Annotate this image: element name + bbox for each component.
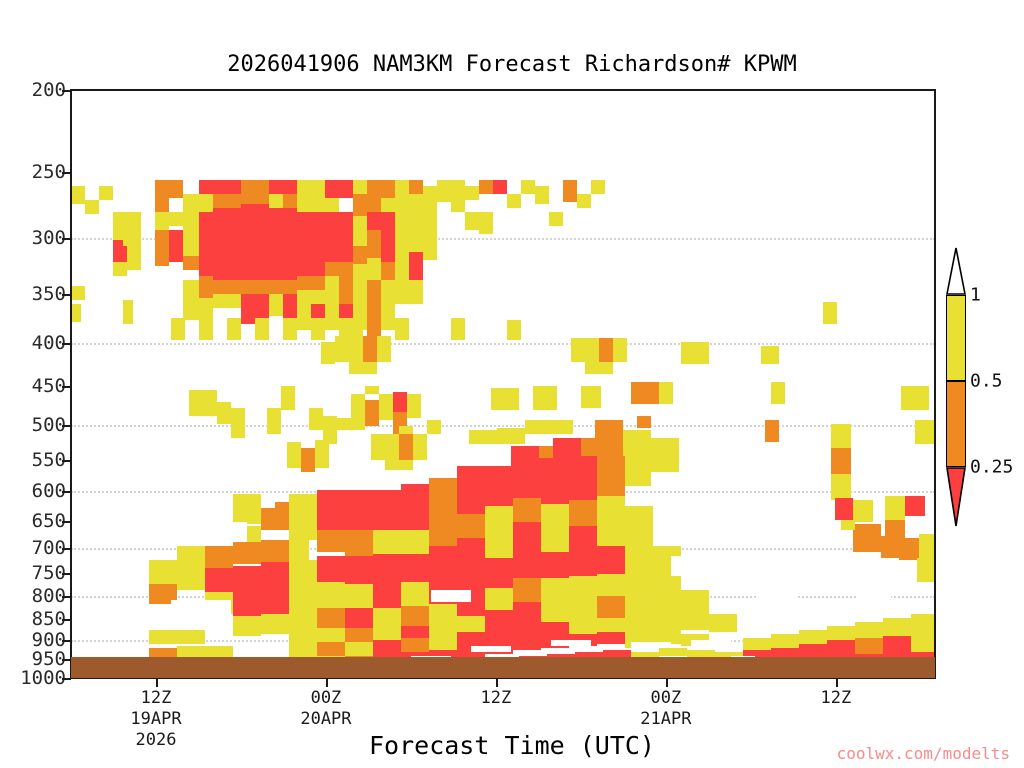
heatmap-cell bbox=[653, 576, 681, 602]
heatmap-cell bbox=[457, 538, 485, 568]
heatmap-cell bbox=[569, 526, 597, 548]
y-axis: 2002503003504004505005506006507007508008… bbox=[0, 0, 66, 768]
heatmap-cell bbox=[373, 490, 401, 534]
heatmap-cell bbox=[765, 420, 779, 442]
heatmap-cell bbox=[855, 638, 883, 654]
heatmap-cell bbox=[507, 194, 521, 208]
y-tick-mark bbox=[62, 386, 71, 388]
heatmap-cell bbox=[289, 644, 317, 658]
heatmap-cell bbox=[513, 578, 541, 604]
heatmap-cell bbox=[743, 638, 771, 650]
heatmap-cells-container bbox=[71, 90, 935, 678]
y-tick-label: 600 bbox=[32, 480, 66, 502]
heatmap-cell bbox=[457, 514, 485, 538]
heatmap-cell bbox=[349, 330, 363, 344]
heatmap-cell bbox=[85, 200, 99, 214]
heatmap-cell bbox=[623, 430, 651, 470]
heatmap-cell bbox=[577, 194, 591, 208]
heatmap-cell bbox=[297, 276, 325, 290]
x-tick-label: 12Z bbox=[481, 688, 512, 709]
heatmap-cell bbox=[171, 600, 231, 614]
heatmap-cell bbox=[71, 186, 85, 204]
heatmap-cell bbox=[351, 394, 365, 418]
heatmap-cell bbox=[409, 280, 423, 304]
colorbar-tick-label: 0.25 bbox=[970, 457, 1013, 478]
heatmap-cell bbox=[381, 180, 395, 198]
heatmap-cell bbox=[213, 280, 241, 294]
heatmap-cell bbox=[199, 194, 213, 212]
heatmap-cell bbox=[681, 590, 709, 612]
y-tick-mark bbox=[62, 294, 71, 296]
heatmap-cell bbox=[231, 408, 245, 438]
heatmap-cell bbox=[345, 642, 373, 656]
heatmap-cell bbox=[395, 194, 409, 212]
y-tick-mark bbox=[62, 238, 71, 240]
heatmap-cell bbox=[353, 304, 367, 330]
heatmap-cell bbox=[317, 582, 345, 608]
heatmap-cell bbox=[399, 434, 413, 460]
heatmap-cell bbox=[325, 304, 339, 330]
heatmap-cell bbox=[289, 538, 309, 560]
heatmap-cell bbox=[571, 338, 599, 362]
heatmap-cell bbox=[429, 524, 457, 546]
heatmap-cell bbox=[469, 430, 497, 444]
heatmap-cell bbox=[653, 618, 681, 632]
heatmap-cell bbox=[513, 498, 541, 522]
heatmap-cell bbox=[549, 212, 563, 226]
x-tick-mark bbox=[666, 678, 668, 687]
heatmap-cell bbox=[199, 212, 213, 276]
heatmap-cell bbox=[563, 180, 577, 202]
heatmap-cell bbox=[613, 338, 627, 362]
heatmap-cell bbox=[233, 566, 261, 592]
heatmap-cell bbox=[569, 456, 597, 500]
heatmap-cell bbox=[423, 232, 437, 260]
heatmap-cell bbox=[631, 382, 659, 404]
heatmap-cell bbox=[183, 194, 199, 212]
heatmap-cell bbox=[233, 494, 247, 522]
x-tick-label-line: 20APR bbox=[300, 709, 351, 730]
heatmap-cell bbox=[269, 194, 283, 208]
heatmap-cell bbox=[71, 286, 85, 300]
heatmap-cell bbox=[625, 506, 653, 540]
heatmap-cell bbox=[367, 280, 381, 304]
x-tick-label-line: 12Z bbox=[130, 688, 181, 709]
y-tick-mark bbox=[62, 640, 71, 642]
heatmap-cell bbox=[569, 548, 597, 576]
heatmap-cell bbox=[189, 390, 217, 416]
heatmap-cell bbox=[353, 194, 367, 216]
heatmap-cell bbox=[99, 186, 113, 200]
heatmap-cell bbox=[401, 606, 429, 628]
heatmap-cell bbox=[381, 198, 395, 212]
heatmap-cell bbox=[205, 546, 233, 568]
heatmap-cell bbox=[513, 638, 541, 650]
gridline bbox=[71, 343, 935, 345]
heatmap-cell bbox=[581, 386, 601, 408]
heatmap-cell bbox=[281, 386, 295, 410]
y-tick-mark bbox=[62, 573, 71, 575]
heatmap-cell bbox=[183, 256, 199, 270]
heatmap-cell bbox=[155, 180, 169, 212]
heatmap-cell bbox=[317, 642, 345, 656]
heatmap-cell bbox=[423, 204, 437, 232]
heatmap-cell bbox=[261, 588, 289, 614]
heatmap-cell bbox=[409, 226, 423, 252]
y-tick-label: 650 bbox=[32, 510, 66, 532]
chart-title: 2026041906 NAM3KM Forecast Richardson# K… bbox=[0, 52, 1024, 77]
heatmap-cell bbox=[199, 318, 213, 340]
heatmap-cell bbox=[497, 428, 525, 444]
heatmap-cell bbox=[177, 546, 205, 566]
heatmap-cell bbox=[409, 252, 423, 280]
heatmap-cell bbox=[377, 336, 391, 362]
credit-watermark: coolwx.com/modelts bbox=[837, 744, 1010, 763]
heatmap-cell bbox=[429, 478, 457, 524]
y-tick-label: 900 bbox=[32, 629, 66, 651]
x-tick-label-line: 12Z bbox=[481, 688, 512, 709]
heatmap-cell bbox=[585, 362, 613, 374]
x-tick-label: 12Z bbox=[820, 688, 851, 709]
heatmap-cell bbox=[317, 556, 345, 582]
heatmap-cell bbox=[451, 180, 465, 194]
heatmap-cell bbox=[691, 640, 731, 646]
heatmap-cell bbox=[339, 280, 353, 304]
heatmap-cell bbox=[427, 420, 441, 434]
heatmap-cell bbox=[233, 616, 261, 636]
heatmap-cell bbox=[911, 614, 935, 634]
heatmap-cell bbox=[637, 416, 651, 428]
heatmap-cell bbox=[309, 408, 323, 430]
heatmap-cell bbox=[883, 618, 911, 636]
heatmap-cell bbox=[535, 186, 549, 204]
heatmap-cell bbox=[597, 596, 625, 620]
heatmap-cell bbox=[177, 566, 205, 590]
x-tick-mark bbox=[496, 678, 498, 687]
colorbar-segment bbox=[946, 381, 966, 467]
heatmap-cell bbox=[831, 448, 851, 474]
heatmap-cell bbox=[709, 614, 737, 632]
heatmap-cell bbox=[261, 540, 289, 562]
heatmap-cell bbox=[381, 280, 395, 304]
heatmap-cell bbox=[169, 230, 183, 262]
heatmap-cell bbox=[905, 496, 925, 516]
heatmap-cell bbox=[297, 194, 325, 212]
x-tick-mark bbox=[156, 678, 158, 687]
heatmap-cell bbox=[591, 180, 605, 194]
heatmap-cell bbox=[513, 548, 541, 578]
heatmap-cell bbox=[681, 342, 709, 364]
heatmap-cell bbox=[345, 556, 373, 584]
colorbar-over-arrow bbox=[946, 247, 966, 295]
heatmap-cell bbox=[339, 262, 353, 280]
y-tick-label: 450 bbox=[32, 375, 66, 397]
y-tick-mark bbox=[62, 678, 71, 680]
gridline bbox=[71, 425, 935, 427]
heatmap-cell bbox=[269, 180, 297, 194]
heatmap-cell bbox=[171, 318, 185, 340]
y-tick-mark bbox=[62, 491, 71, 493]
heatmap-cell bbox=[183, 280, 199, 306]
x-tick-mark bbox=[836, 678, 838, 687]
heatmap-cell bbox=[631, 642, 671, 648]
heatmap-cell bbox=[241, 204, 269, 280]
heatmap-cell bbox=[597, 632, 625, 644]
heatmap-cell bbox=[485, 466, 513, 506]
colorbar-under-arrow bbox=[946, 467, 966, 527]
heatmap-cell bbox=[283, 194, 297, 208]
heatmap-cell bbox=[113, 262, 127, 276]
x-tick-label: 00Z21APR bbox=[640, 688, 691, 730]
heatmap-cell bbox=[831, 474, 851, 500]
y-tick-mark bbox=[62, 521, 71, 523]
heatmap-cell bbox=[885, 496, 905, 520]
heatmap-cell bbox=[297, 304, 311, 330]
heatmap-cell bbox=[395, 180, 409, 194]
heatmap-cell bbox=[385, 460, 413, 470]
heatmap-cell bbox=[353, 246, 367, 264]
heatmap-cell bbox=[325, 180, 353, 198]
heatmap-cell bbox=[337, 418, 365, 430]
heatmap-cell bbox=[399, 426, 413, 434]
heatmap-cell bbox=[653, 600, 681, 620]
y-tick-label: 300 bbox=[32, 227, 66, 249]
heatmap-cell bbox=[127, 248, 141, 270]
heatmap-cell bbox=[289, 560, 317, 584]
heatmap-cell bbox=[597, 456, 625, 496]
heatmap-cell bbox=[401, 582, 429, 606]
heatmap-cell bbox=[597, 546, 625, 574]
colorbar-tick-label: 0.5 bbox=[970, 371, 1003, 392]
heatmap-cell bbox=[241, 280, 269, 294]
colorbar-segment bbox=[946, 295, 966, 381]
y-tick-label: 500 bbox=[32, 414, 66, 436]
heatmap-cell bbox=[241, 180, 269, 194]
heatmap-plot-area bbox=[71, 90, 935, 678]
heatmap-cell bbox=[409, 194, 423, 226]
heatmap-cell bbox=[149, 630, 177, 644]
x-tick-label-line: 21APR bbox=[640, 709, 691, 730]
heatmap-cell bbox=[625, 560, 653, 586]
heatmap-cell bbox=[569, 500, 597, 526]
heatmap-cell bbox=[247, 494, 261, 524]
heatmap-cell bbox=[311, 318, 325, 340]
heatmap-cell bbox=[533, 386, 557, 410]
heatmap-cell bbox=[353, 180, 367, 194]
heatmap-cell bbox=[597, 496, 625, 522]
colorbar: 10.50.25 bbox=[946, 295, 966, 467]
heatmap-cell bbox=[711, 580, 739, 594]
heatmap-cell bbox=[269, 280, 297, 294]
heatmap-cell bbox=[169, 212, 183, 226]
y-tick-label: 350 bbox=[32, 283, 66, 305]
heatmap-cell bbox=[373, 582, 401, 608]
x-tick-label: 00Z20APR bbox=[300, 688, 351, 730]
heatmap-cell bbox=[269, 294, 283, 316]
heatmap-cell bbox=[451, 194, 465, 212]
heatmap-cell bbox=[367, 180, 381, 212]
heatmap-cell bbox=[363, 336, 377, 362]
heatmap-cell bbox=[507, 320, 521, 340]
heatmap-cell bbox=[325, 212, 353, 262]
x-tick-label-line: 19APR bbox=[130, 709, 181, 730]
heatmap-cell bbox=[401, 530, 429, 554]
heatmap-cell bbox=[227, 318, 241, 340]
colorbar-tick-label: 1 bbox=[970, 285, 981, 306]
heatmap-cell bbox=[325, 262, 339, 276]
heatmap-cell bbox=[823, 302, 837, 324]
heatmap-cell bbox=[233, 542, 261, 564]
y-tick-mark bbox=[62, 460, 71, 462]
heatmap-cell bbox=[365, 386, 379, 394]
heatmap-cell bbox=[599, 338, 613, 362]
heatmap-cell bbox=[261, 508, 275, 530]
heatmap-cell bbox=[199, 180, 213, 194]
heatmap-cell bbox=[541, 458, 569, 504]
heatmap-cell bbox=[841, 520, 855, 530]
heatmap-cell bbox=[761, 346, 779, 364]
heatmap-cell bbox=[213, 180, 241, 194]
heatmap-cell bbox=[297, 212, 325, 276]
heatmap-cell bbox=[275, 502, 289, 530]
heatmap-cell bbox=[353, 216, 367, 246]
y-tick-label: 250 bbox=[32, 161, 66, 183]
heatmap-cell bbox=[835, 498, 853, 520]
heatmap-cell bbox=[799, 630, 827, 644]
heatmap-cell bbox=[205, 568, 233, 592]
heatmap-cell bbox=[345, 584, 373, 608]
heatmap-cell bbox=[771, 382, 785, 404]
heatmap-cell bbox=[917, 558, 935, 582]
heatmap-cell bbox=[401, 554, 429, 582]
heatmap-cell bbox=[901, 386, 929, 410]
heatmap-cell bbox=[395, 318, 409, 340]
heatmap-cell bbox=[183, 306, 199, 320]
heatmap-cell bbox=[325, 198, 339, 212]
heatmap-cell bbox=[671, 556, 719, 576]
heatmap-cell bbox=[429, 546, 457, 576]
heatmap-cell bbox=[381, 212, 395, 262]
heatmap-cell bbox=[471, 646, 511, 652]
y-tick-label: 700 bbox=[32, 537, 66, 559]
heatmap-cell bbox=[513, 602, 541, 626]
y-tick-label: 200 bbox=[32, 79, 66, 101]
heatmap-cell bbox=[915, 420, 935, 444]
x-tick-label: 12Z19APR2026 bbox=[130, 688, 181, 751]
heatmap-cell bbox=[491, 388, 519, 410]
heatmap-cell bbox=[213, 194, 241, 208]
heatmap-cell bbox=[289, 608, 317, 630]
heatmap-cell bbox=[317, 530, 345, 552]
y-tick-mark bbox=[62, 172, 71, 174]
heatmap-cell bbox=[155, 252, 169, 266]
heatmap-cell bbox=[315, 440, 329, 468]
heatmap-cell bbox=[513, 458, 541, 498]
heatmap-cell bbox=[431, 590, 471, 602]
heatmap-cell bbox=[241, 194, 269, 204]
heatmap-cell bbox=[853, 524, 881, 552]
heatmap-cell bbox=[379, 394, 393, 420]
y-tick-mark bbox=[62, 596, 71, 598]
y-tick-mark bbox=[62, 659, 71, 661]
heatmap-cell bbox=[623, 470, 651, 486]
heatmap-cell bbox=[217, 402, 231, 424]
heatmap-cell bbox=[541, 552, 569, 578]
heatmap-cell bbox=[123, 300, 133, 324]
heatmap-cell bbox=[261, 562, 289, 588]
heatmap-cell bbox=[553, 420, 573, 434]
heatmap-cell bbox=[485, 532, 513, 558]
heatmap-cell bbox=[437, 180, 451, 202]
heatmap-cell bbox=[899, 538, 919, 560]
heatmap-cell bbox=[155, 230, 169, 252]
heatmap-cell bbox=[401, 484, 429, 530]
heatmap-cell bbox=[827, 640, 855, 656]
x-tick-label-line: 00Z bbox=[640, 688, 691, 709]
y-tick-mark bbox=[62, 425, 71, 427]
heatmap-cell bbox=[457, 466, 485, 514]
heatmap-cell bbox=[269, 208, 297, 280]
heatmap-cell bbox=[283, 318, 297, 340]
heatmap-cell bbox=[267, 408, 281, 434]
heatmap-cell bbox=[255, 318, 269, 340]
heatmap-cell bbox=[169, 180, 183, 198]
heatmap-cell bbox=[367, 212, 381, 230]
heatmap-cell bbox=[423, 186, 437, 204]
y-tick-mark bbox=[62, 548, 71, 550]
heatmap-cell bbox=[395, 212, 409, 256]
heatmap-cell bbox=[409, 180, 423, 194]
heatmap-cell bbox=[301, 448, 315, 472]
heatmap-cell bbox=[525, 420, 553, 434]
heatmap-cell bbox=[485, 506, 513, 532]
y-tick-label: 400 bbox=[32, 332, 66, 354]
heatmap-cell bbox=[149, 560, 177, 584]
heatmap-cell bbox=[479, 212, 493, 234]
heatmap-cell bbox=[199, 276, 213, 298]
heatmap-cell bbox=[289, 584, 317, 608]
heatmap-cell bbox=[123, 218, 133, 246]
heatmap-cell bbox=[213, 294, 241, 308]
heatmap-cell bbox=[569, 598, 597, 622]
heatmap-cell bbox=[395, 256, 409, 280]
heatmap-cell bbox=[183, 212, 199, 256]
heatmap-cell bbox=[659, 648, 687, 656]
heatmap-cell bbox=[853, 500, 873, 522]
x-tick-label-line: 12Z bbox=[820, 688, 851, 709]
heatmap-cell bbox=[261, 614, 289, 634]
heatmap-cell bbox=[513, 522, 541, 548]
y-tick-label: 800 bbox=[32, 585, 66, 607]
heatmap-cell bbox=[757, 596, 797, 612]
heatmap-cell bbox=[413, 434, 427, 460]
heatmap-cell bbox=[407, 394, 421, 418]
y-tick-label: 1000 bbox=[20, 667, 66, 689]
heatmap-cell bbox=[345, 530, 373, 556]
heatmap-cell bbox=[541, 504, 569, 530]
heatmap-cell bbox=[771, 634, 799, 648]
y-tick-mark bbox=[62, 90, 71, 92]
heatmap-cell bbox=[479, 180, 493, 194]
heatmap-cell bbox=[541, 600, 569, 624]
heatmap-cell bbox=[155, 212, 169, 230]
heatmap-cell bbox=[177, 630, 205, 644]
heatmap-cell bbox=[373, 608, 401, 628]
heatmap-cell bbox=[551, 640, 591, 646]
heatmap-cell bbox=[373, 640, 401, 654]
y-tick-mark bbox=[62, 343, 71, 345]
heatmap-cell bbox=[791, 566, 827, 586]
